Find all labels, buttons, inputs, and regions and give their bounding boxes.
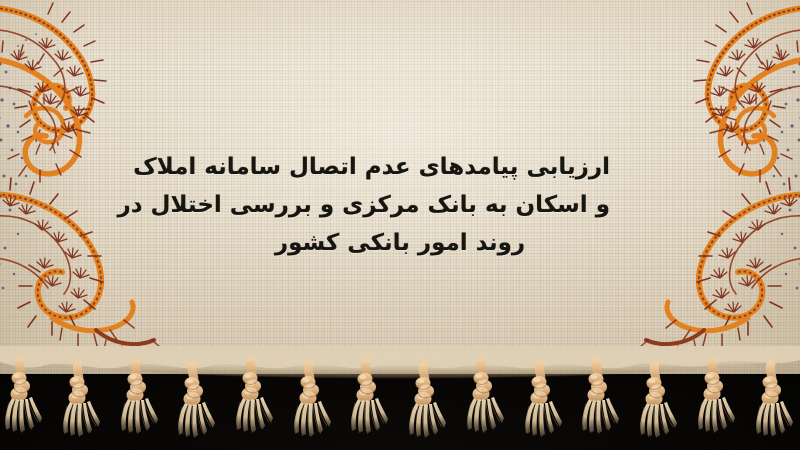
title-line-1: ارزیابی پیامدهای عدم اتصال سامانه املاک [190,148,610,186]
banner-title: ارزیابی پیامدهای عدم اتصال سامانه املاک … [190,148,610,262]
knotted-tassel-fringe [0,346,800,450]
textile-banner-image: ارزیابی پیامدهای عدم اتصال سامانه املاک … [0,0,800,450]
title-line-3: روند امور بانکی کشور [190,224,610,262]
title-line-2: و اسکان به بانک مرکزی و بررسی اختلال در [190,186,610,224]
